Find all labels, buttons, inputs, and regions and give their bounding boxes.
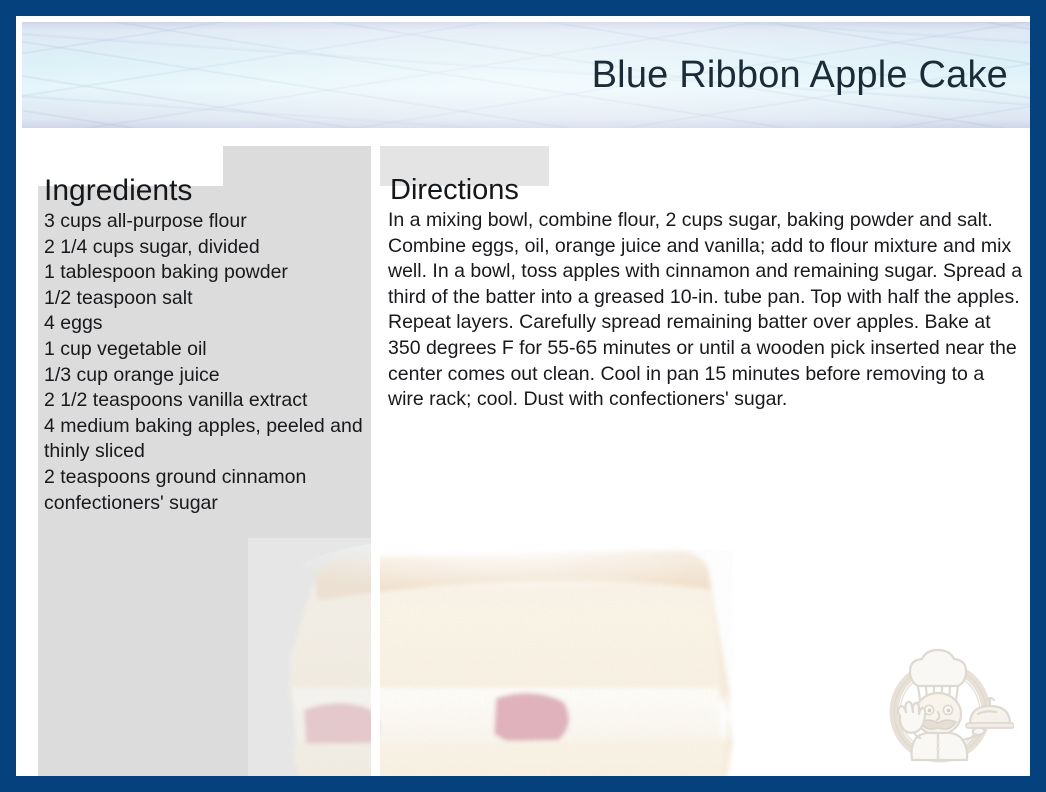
ingredient-item: 1/3 cup orange juice [44, 363, 364, 389]
ingredient-item: 2 1/4 cups sugar, divided [44, 235, 364, 261]
recipe-content: Ingredients Directions 3 cups all-purpos… [22, 128, 1030, 786]
column-divider [371, 146, 380, 786]
ingredient-item: 1 cup vegetable oil [44, 337, 364, 363]
ingredients-heading: Ingredients [44, 172, 192, 210]
recipe-card: Blue Ribbon Apple Cake [0, 0, 1046, 792]
directions-heading: Directions [390, 171, 519, 209]
ingredient-item: 2 1/2 teaspoons vanilla extract [44, 388, 364, 414]
title-banner: Blue Ribbon Apple Cake [22, 22, 1030, 128]
ingredient-item: 1/2 teaspoon salt [44, 286, 364, 312]
ingredient-item: confectioners' sugar [44, 491, 364, 517]
page-title: Blue Ribbon Apple Cake [592, 56, 1008, 94]
ingredient-item: 4 eggs [44, 311, 364, 337]
ingredient-item: 3 cups all-purpose flour [44, 209, 364, 235]
ingredient-item: 2 teaspoons ground cinnamon [44, 465, 364, 491]
ingredient-item: 4 medium baking apples, peeled and thinl… [44, 414, 364, 465]
ingredient-item: 1 tablespoon baking powder [44, 260, 364, 286]
ingredients-list: 3 cups all-purpose flour2 1/4 cups sugar… [44, 209, 364, 516]
directions-text: In a mixing bowl, combine flour, 2 cups … [388, 208, 1024, 413]
